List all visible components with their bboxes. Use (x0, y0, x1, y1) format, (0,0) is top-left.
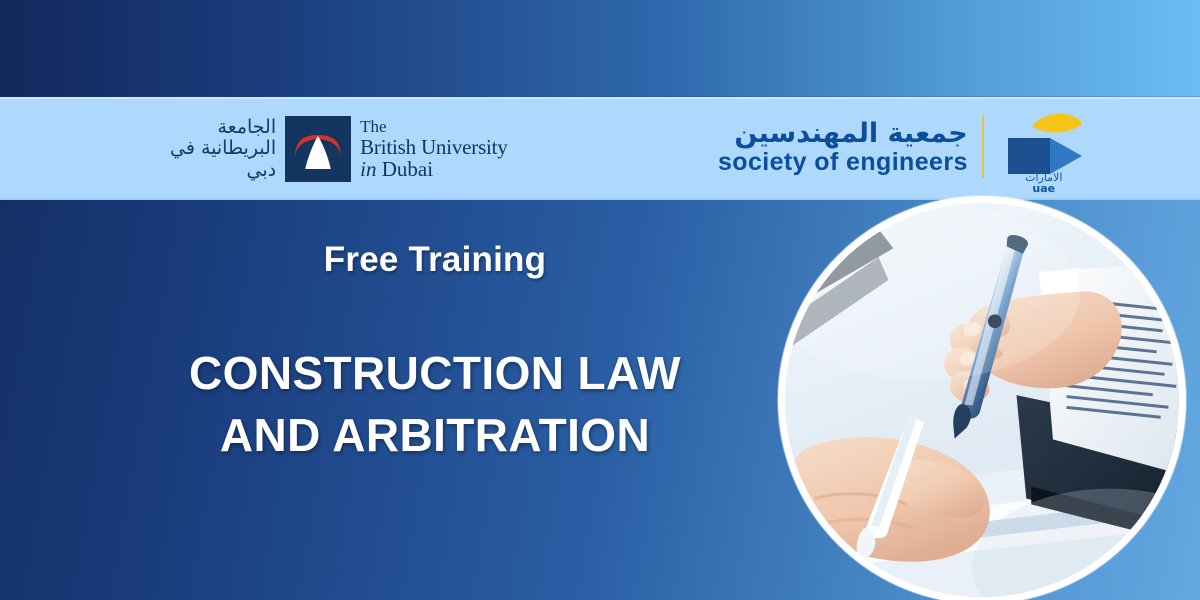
eyebrow-text: Free Training (0, 240, 870, 280)
soe-english-name: society of engineers (718, 149, 968, 177)
soe-arabic-name: جمعية المهندسين (718, 118, 968, 149)
top-gradient-strip (0, 0, 1200, 96)
buid-arabic-name: الجامعة البريطانية في دبي (170, 117, 276, 181)
headline-line-2: AND ARBITRATION (0, 404, 870, 466)
logo-society-of-engineers[interactable]: جمعية المهندسين society of engineers الا… (718, 104, 1090, 190)
headline-block: Free Training CONSTRUCTION LAW AND ARBIT… (0, 240, 870, 466)
buid-english-name: The British University in Dubai (360, 118, 507, 181)
buid-english-in: in (360, 157, 376, 181)
buid-arabic-line-1: الجامعة (170, 117, 276, 138)
buid-logo-mark-icon (285, 116, 351, 182)
buid-english-line-2: British University (360, 136, 507, 158)
buid-english-dubai: Dubai (382, 157, 433, 181)
soe-country-english: uae (998, 183, 1090, 194)
logo-british-university-in-dubai[interactable]: الجامعة البريطانية في دبي The British Un… (170, 105, 508, 193)
band-top-divider (0, 97, 1200, 99)
soe-wordmark: جمعية المهندسين society of engineers (718, 118, 968, 177)
soe-country-label: الامارات uae (998, 172, 1090, 194)
contract-signing-photo (778, 196, 1186, 600)
buid-arabic-line-2: البريطانية في (170, 138, 276, 159)
page-title: CONSTRUCTION LAW AND ARBITRATION (0, 342, 870, 466)
soe-emblem-icon: الامارات uae (998, 104, 1090, 190)
soe-divider (982, 116, 984, 178)
event-banner: الجامعة البريطانية في دبي The British Un… (0, 0, 1200, 600)
headline-line-1: CONSTRUCTION LAW (0, 342, 870, 404)
buid-english-line-1: The (360, 118, 507, 136)
buid-arabic-line-3: دبي (170, 160, 276, 181)
buid-english-line-3: in Dubai (360, 158, 507, 180)
